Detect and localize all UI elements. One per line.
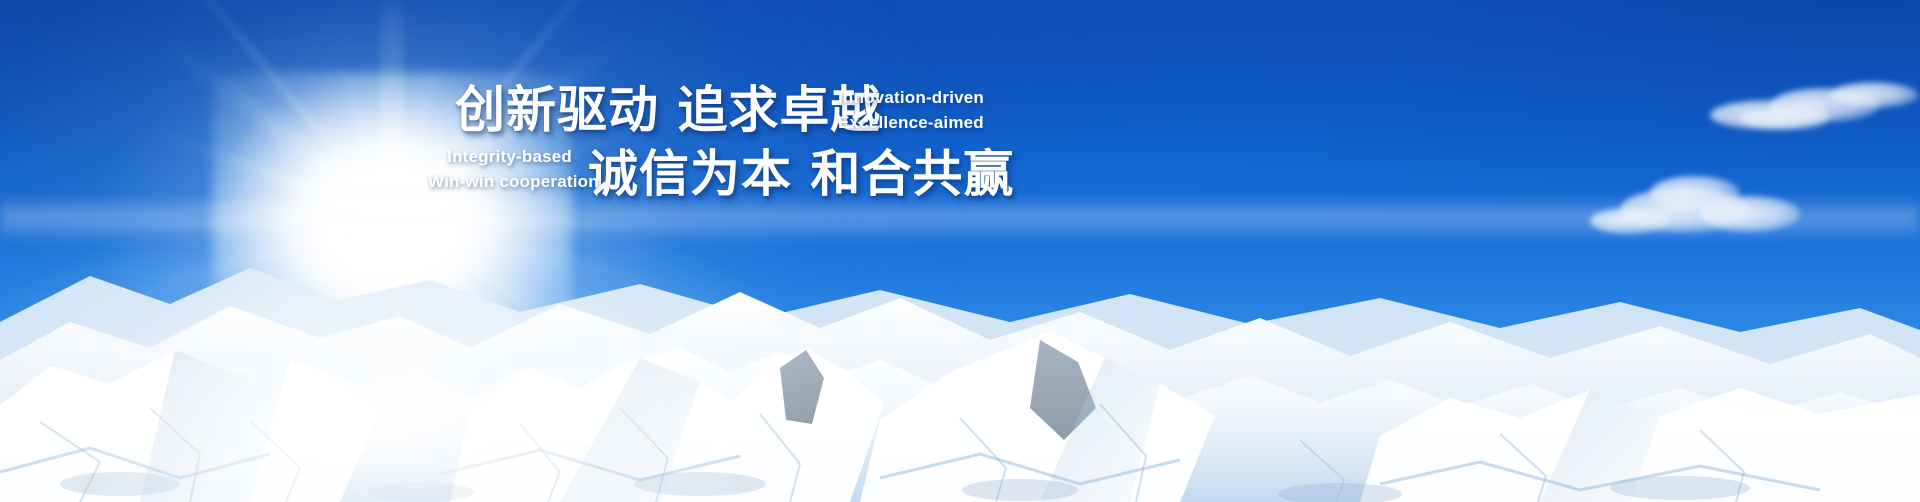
hero-banner: 创新驱动 追求卓越 诚信为本 和合共赢 Innovation-driven Ex… xyxy=(0,0,1920,502)
banner-copy: 创新驱动 追求卓越 诚信为本 和合共赢 Innovation-driven Ex… xyxy=(0,0,1920,502)
slogan-right-line-1: Innovation-driven xyxy=(838,86,984,111)
slogan-left: Integrity-based Win-win cooperation xyxy=(428,145,572,194)
slogan-right-line-2: Excellence-aimed xyxy=(838,111,984,136)
headline-line-1: 创新驱动 追求卓越 xyxy=(455,70,881,142)
slogan-left-line-1: Integrity-based xyxy=(428,145,572,170)
slogan-right: Innovation-driven Excellence-aimed xyxy=(838,86,984,135)
headline-line-2: 诚信为本 和合共赢 xyxy=(588,134,1014,206)
slogan-left-line-2: Win-win cooperation xyxy=(428,170,572,195)
